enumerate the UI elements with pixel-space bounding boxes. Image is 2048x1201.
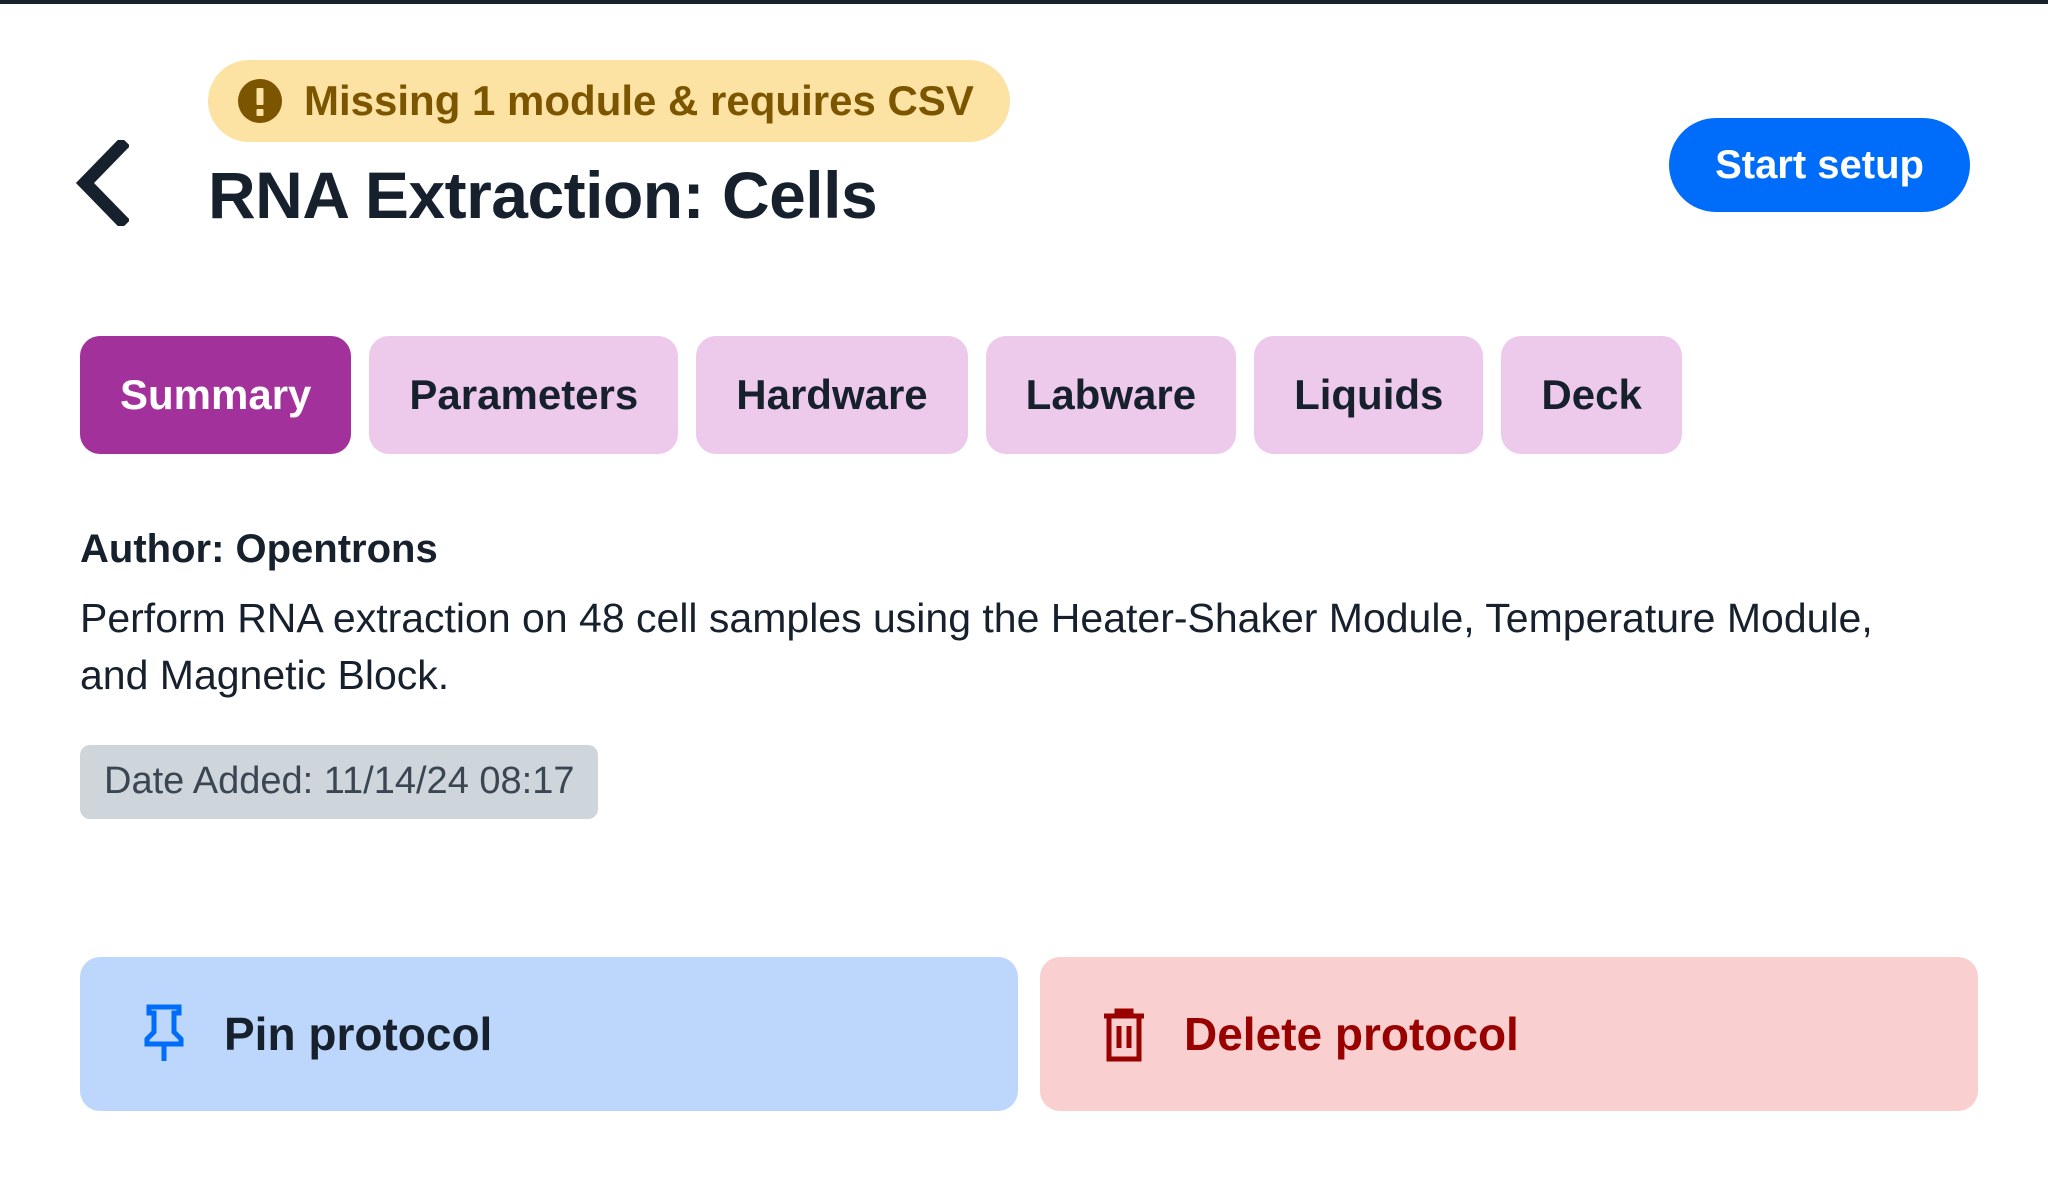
tab-labware[interactable]: Labware [986,336,1236,454]
chevron-left-icon [75,140,129,226]
author-label: Author: Opentrons [80,522,1950,576]
delete-protocol-button[interactable]: Delete protocol [1040,957,1978,1111]
start-setup-button[interactable]: Start setup [1669,118,1970,212]
pushpin-icon [138,1004,190,1064]
trash-icon [1098,1004,1150,1064]
pin-protocol-label: Pin protocol [224,1007,492,1061]
tab-summary[interactable]: Summary [80,336,351,454]
summary-panel: Author: Opentrons Perform RNA extraction… [80,522,1950,819]
status-badge-label: Missing 1 module & requires CSV [304,80,974,122]
action-buttons: Pin protocol Delete protocol [80,957,1978,1111]
protocol-description: Perform RNA extraction on 48 cell sample… [80,590,1940,703]
alert-circle-icon [238,79,282,123]
page-title: RNA Extraction: Cells [208,158,1010,234]
tab-hardware[interactable]: Hardware [696,336,967,454]
delete-protocol-label: Delete protocol [1184,1007,1519,1061]
protocol-details-screen: Missing 1 module & requires CSV RNA Extr… [0,0,2048,1201]
status-badge: Missing 1 module & requires CSV [208,60,1010,142]
pin-protocol-button[interactable]: Pin protocol [80,957,1018,1111]
tab-deck[interactable]: Deck [1501,336,1681,454]
protocol-tabs: Summary Parameters Hardware Labware Liqu… [80,336,1682,454]
header-text-block: Missing 1 module & requires CSV RNA Extr… [208,60,1010,234]
date-added-chip: Date Added: 11/14/24 08:17 [80,745,598,819]
page-header: Missing 1 module & requires CSV RNA Extr… [0,8,2048,308]
tab-liquids[interactable]: Liquids [1254,336,1483,454]
back-button[interactable] [62,128,142,238]
tab-parameters[interactable]: Parameters [369,336,678,454]
